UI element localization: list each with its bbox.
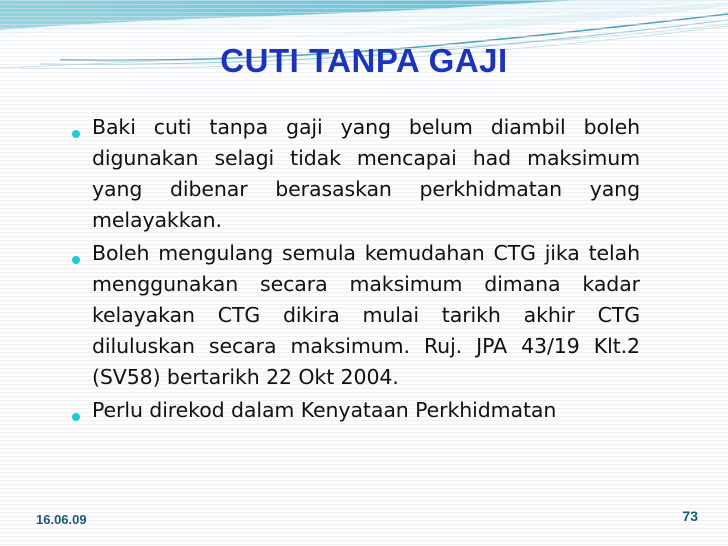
footer-page-number: 73 <box>682 508 698 524</box>
bullet-dot-icon <box>72 112 92 142</box>
footer-date: 16.06.09 <box>36 512 87 527</box>
bullet-dot-icon <box>72 238 92 268</box>
list-item: Boleh mengulang semula kemudahan CTG jik… <box>72 238 640 393</box>
bullet-text-1: Baki cuti tanpa gaji yang belum diambil … <box>92 112 640 236</box>
list-item: Baki cuti tanpa gaji yang belum diambil … <box>72 112 640 236</box>
bullet-text-2: Boleh mengulang semula kemudahan CTG jik… <box>92 238 640 393</box>
bullet-dot-icon <box>72 395 92 425</box>
bullet-text-3: Perlu direkod dalam Kenyataan Perkhidmat… <box>92 395 640 426</box>
slide-canvas: CUTI TANPA GAJI Baki cuti tanpa gaji yan… <box>0 0 728 546</box>
bullet-list: Baki cuti tanpa gaji yang belum diambil … <box>72 112 640 428</box>
list-item: Perlu direkod dalam Kenyataan Perkhidmat… <box>72 395 640 426</box>
slide-title: CUTI TANPA GAJI <box>0 42 728 80</box>
